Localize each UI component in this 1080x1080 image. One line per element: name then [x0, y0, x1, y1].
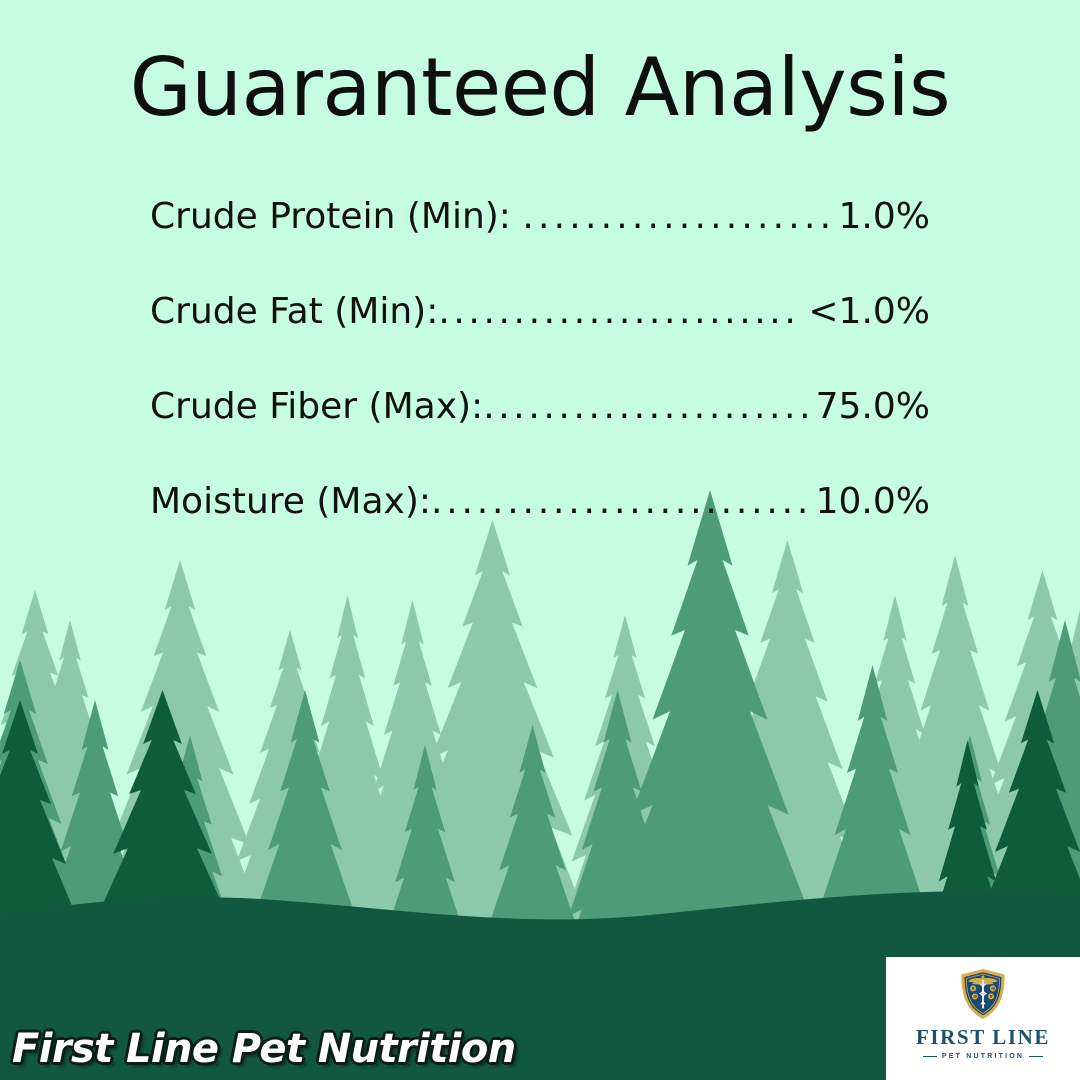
shield-caduceus-icon: [959, 968, 1007, 1020]
analysis-row-value: 75.0%: [810, 386, 930, 427]
analysis-row-leaders: ........................................…: [431, 481, 810, 522]
analysis-row-leaders: ........................................…: [522, 196, 832, 237]
analysis-row-crude-protein: Crude Protein (Min): ...................…: [150, 196, 930, 291]
dash-right-icon: [1029, 1056, 1043, 1058]
analysis-row-label: Moisture (Max):: [150, 481, 431, 522]
analysis-row-label: Crude Fat (Min):: [150, 291, 438, 332]
analysis-row-leaders: ........................................…: [483, 386, 809, 427]
poster-canvas: Guaranteed Analysis Crude Protein (Min):…: [0, 0, 1080, 1080]
logo-tagline-row: PET NUTRITION: [923, 1053, 1043, 1060]
logo-name: FIRST LINE: [916, 1027, 1050, 1048]
analysis-row-crude-fiber: Crude Fiber (Max): .....................…: [150, 386, 930, 481]
logo-tagline: PET NUTRITION: [942, 1053, 1024, 1060]
analysis-row-crude-fat: Crude Fat (Min): .......................…: [150, 291, 930, 386]
brand-wordmark: First Line Pet Nutrition: [12, 1026, 516, 1072]
analysis-row-leaders: ........................................…: [438, 291, 802, 332]
analysis-row-label: Crude Fiber (Max):: [150, 386, 483, 427]
guaranteed-analysis-list: Crude Protein (Min): ...................…: [150, 196, 930, 576]
analysis-row-value: 1.0%: [833, 196, 930, 237]
analysis-row-moisture: Moisture (Max): ........................…: [150, 481, 930, 576]
brand-logo-card: FIRST LINE PET NUTRITION: [886, 957, 1080, 1080]
dash-left-icon: [923, 1056, 937, 1058]
analysis-row-value: 10.0%: [810, 481, 930, 522]
analysis-row-value: <1.0%: [802, 291, 930, 332]
analysis-row-label: Crude Protein (Min):: [150, 196, 522, 237]
page-title: Guaranteed Analysis: [0, 46, 1080, 130]
